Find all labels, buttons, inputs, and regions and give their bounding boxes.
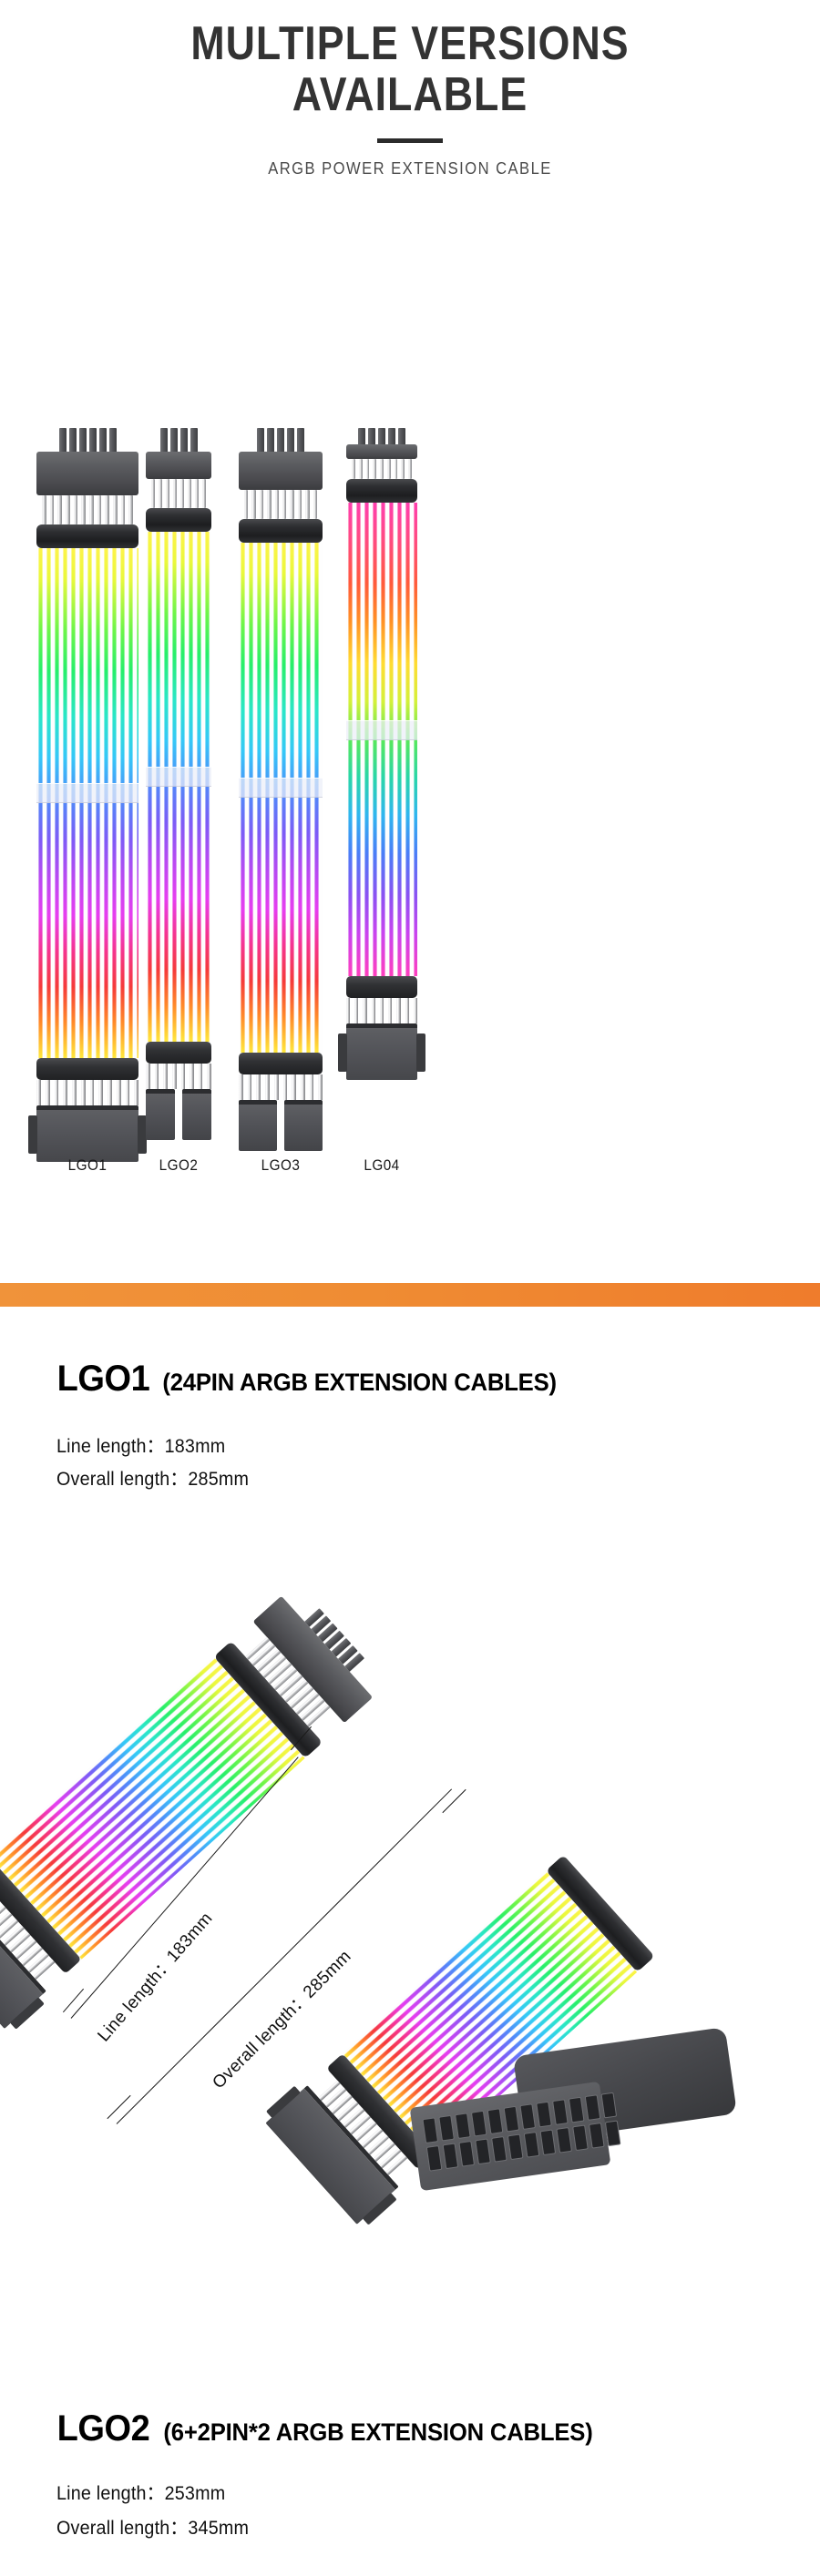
connector-pin-bottom	[134, 1080, 138, 1105]
connector-pin-bottom-group	[346, 998, 417, 1023]
connector-pin	[290, 490, 293, 519]
top-connector-body	[239, 452, 323, 490]
connector-pin-bottom	[301, 1074, 305, 1100]
connector-pin	[195, 479, 199, 508]
connector-pin-bottom	[46, 1080, 50, 1105]
connector-pin-hole	[458, 2141, 475, 2167]
connector-pin-hole	[519, 2103, 536, 2130]
connector-pin	[50, 495, 55, 524]
connector-pin	[188, 479, 191, 508]
connector-pin	[89, 495, 94, 524]
connector-pin-hole	[491, 2136, 507, 2163]
bottom-connector-block	[346, 1023, 417, 1080]
ribbon-mid-clip	[239, 778, 323, 798]
cable-clamp-bottom	[346, 976, 417, 998]
connector-pin-hole	[443, 2143, 459, 2169]
spec-value: 345mm	[188, 2518, 249, 2539]
cable-label-lgo3: LGO3	[223, 1156, 338, 1175]
connector-post	[160, 428, 168, 452]
connector-pin-bottom	[55, 1080, 59, 1105]
connector-post	[388, 428, 395, 444]
bottom-connector-block	[36, 1105, 138, 1162]
connector-pin-bottom	[239, 1074, 243, 1100]
connector-post	[59, 428, 67, 452]
spec-separator: ：	[147, 1436, 165, 1457]
rgb-ribbon	[239, 543, 323, 1053]
connector-pin-bottom	[163, 1064, 168, 1089]
connector-pin-bottom-group	[36, 1080, 138, 1105]
connector-pin	[74, 495, 78, 524]
spec-value: 253mm	[165, 2483, 226, 2504]
connector-post	[190, 428, 198, 452]
connector-pin-hole	[438, 2115, 455, 2142]
connector-pin	[395, 459, 398, 479]
rgb-glow-layer	[239, 543, 323, 1053]
connector-pin-bottom	[190, 1064, 194, 1089]
page-title-line1: MULTIPLE VERSIONS	[57, 18, 763, 69]
connector-pin-hole	[524, 2132, 540, 2158]
connector-pin	[251, 490, 255, 519]
product-heading-lgo1: LGO1 (24PIN ARGB EXTENSION CABLES)	[55, 1359, 567, 1400]
connector-pin	[352, 459, 355, 479]
connector-pin-hole	[475, 2138, 491, 2164]
connector-post	[287, 428, 294, 452]
connector-pin	[380, 459, 384, 479]
cable-clamp-bottom	[36, 1058, 138, 1080]
connector-pin	[97, 495, 102, 524]
connector-pin	[66, 495, 70, 524]
connector-pin	[173, 479, 177, 508]
connector-post-group	[36, 428, 138, 452]
connector-pin-hole	[572, 2124, 589, 2151]
connector-pin-bottom	[117, 1080, 121, 1105]
connector-pin	[260, 490, 263, 519]
spec-separator: ：	[169, 1469, 188, 1490]
spec-separator: ：	[147, 2483, 165, 2504]
connector-pin	[202, 479, 206, 508]
connector-pin-group	[146, 479, 211, 508]
cable-label-lg04: LG04	[324, 1156, 439, 1175]
bottom-connector-block	[146, 1089, 175, 1140]
connector-pin-bottom	[98, 1080, 103, 1105]
connector-post	[398, 428, 405, 444]
connector-pin-bottom	[354, 998, 358, 1023]
connector-pin-bottom	[292, 1074, 296, 1100]
section-divider-bar	[0, 1283, 820, 1307]
connector-pin	[180, 479, 184, 508]
connector-pin-bottom	[380, 998, 384, 1023]
connector-pin	[166, 479, 169, 508]
page-subtitle: ARGB POWER EXTENSION CABLE	[33, 159, 787, 178]
connector-post	[267, 428, 274, 452]
connector-pin	[244, 490, 248, 519]
spec-value: 285mm	[188, 1469, 249, 1490]
bottom-connector-block	[284, 1100, 323, 1151]
connector-post-group	[239, 428, 323, 452]
connector-pin-bottom	[248, 1074, 252, 1100]
connector-pin-hole	[507, 2133, 524, 2160]
connector-pin-bottom-group	[239, 1074, 323, 1100]
product-model-lgo2: LGO2	[57, 2408, 150, 2449]
bottom-connector-block	[239, 1100, 277, 1151]
connector-pin-bottom	[310, 1074, 314, 1100]
connector-pin-bottom	[396, 998, 400, 1023]
connector-post-group	[346, 428, 417, 444]
spec-value: 183mm	[165, 1436, 226, 1457]
rgb-glow-layer	[36, 548, 138, 1058]
connector-pin-hole	[536, 2102, 552, 2128]
connector-pin	[113, 495, 118, 524]
connector-pin-hole	[585, 2094, 601, 2121]
connector-post	[89, 428, 97, 452]
connector-pin	[267, 490, 271, 519]
connector-pin-bottom	[172, 1064, 177, 1089]
connector-pin-hole	[487, 2108, 504, 2134]
spec-overall-length-lgo1: Overall length：285mm	[56, 1464, 249, 1492]
rgb-ribbon	[36, 548, 138, 1058]
dimension-tick	[107, 2095, 130, 2119]
connector-pin-bottom	[81, 1080, 86, 1105]
connector-pin	[401, 459, 405, 479]
cable-lgo2	[146, 428, 211, 1140]
connector-pin-bottom	[265, 1074, 270, 1100]
rgb-ribbon	[146, 532, 211, 1042]
connector-pin-hole	[422, 2117, 438, 2143]
connector-pin-bottom	[405, 998, 409, 1023]
connector-post	[99, 428, 107, 452]
product-heading-lgo2: LGO2 (6+2PIN*2 ARGB EXTENSION CABLES)	[55, 2408, 604, 2449]
connector-pin	[42, 495, 46, 524]
connector-pin-bottom	[414, 998, 417, 1023]
connector-post	[79, 428, 87, 452]
connector-pin	[151, 479, 155, 508]
connector-pin-hole	[504, 2106, 520, 2133]
connector-pin	[275, 490, 279, 519]
connector-pin-bottom	[72, 1080, 77, 1105]
connector-pin	[282, 490, 286, 519]
connector-pin-bottom	[199, 1064, 203, 1089]
connector-pin-bottom	[108, 1080, 112, 1105]
connector-pin	[121, 495, 126, 524]
connector-pin-hole	[540, 2129, 557, 2155]
connector-pin-bottom	[283, 1074, 288, 1100]
bottom-connector-pair	[146, 1089, 211, 1140]
cable-clamp-top	[36, 524, 138, 548]
ribbon-mid-clip	[346, 720, 417, 740]
spec-label: Overall length	[56, 2518, 169, 2539]
connector-post	[170, 428, 178, 452]
connector-post	[69, 428, 77, 452]
top-connector-body	[36, 452, 138, 495]
connector-latch	[363, 2193, 397, 2225]
connector-pin	[298, 490, 302, 519]
connector-pin-bottom	[63, 1080, 67, 1105]
spec-overall-length-lgo2: Overall length：345mm	[56, 2513, 249, 2540]
connector-pin	[305, 490, 309, 519]
connector-pin-bottom	[318, 1074, 323, 1100]
spec-label: Overall length	[56, 1469, 169, 1490]
rgb-ribbon	[346, 503, 417, 976]
connector-pin-hole	[569, 2097, 585, 2123]
cable-lgo1	[36, 428, 138, 1162]
spec-label: Line length	[56, 1436, 147, 1457]
connector-post	[378, 428, 385, 444]
connector-pin-bottom	[90, 1080, 95, 1105]
top-connector-body	[146, 452, 211, 479]
connector-pin-bottom	[346, 998, 350, 1023]
product-description-lgo2: (6+2PIN*2 ARGB EXTENSION CABLES)	[163, 2418, 592, 2447]
connector-latch	[10, 1997, 45, 2030]
connector-pin-group	[36, 495, 138, 524]
connector-latch	[266, 2086, 301, 2119]
cable-clamp-top	[239, 519, 323, 543]
connector-pin-bottom	[388, 998, 392, 1023]
cable-clamp-top	[346, 479, 417, 503]
connector-latch	[28, 1115, 37, 1154]
connector-pin	[128, 495, 133, 524]
connector-post	[277, 428, 284, 452]
spec-separator: ：	[169, 2518, 188, 2539]
connector-pin-bottom	[181, 1064, 186, 1089]
connector-post	[257, 428, 264, 452]
rgb-glow-layer	[146, 532, 211, 1042]
connector-pin	[359, 459, 363, 479]
connector-pin	[387, 459, 391, 479]
connector-pin-bottom	[363, 998, 366, 1023]
connector-pin-group	[346, 459, 417, 479]
bottom-connector-pair	[239, 1100, 323, 1151]
connector-pin	[408, 459, 412, 479]
cable-clamp-bottom	[239, 1053, 323, 1074]
connector-pin-bottom	[155, 1064, 159, 1089]
connector-pin-bottom	[372, 998, 375, 1023]
connector-pin-bottom	[207, 1064, 211, 1089]
connector-pin-hole	[589, 2123, 605, 2149]
product-description-lgo1: (24PIN ARGB EXTENSION CABLES)	[162, 1369, 557, 1397]
page-title: MULTIPLE VERSIONS AVAILABLE	[57, 0, 763, 120]
hero-section: MULTIPLE VERSIONS AVAILABLE ARGB POWER E…	[0, 0, 820, 246]
connector-pin	[81, 495, 86, 524]
dimension-tick	[63, 1989, 84, 2012]
connector-pin-bottom-group	[146, 1064, 211, 1089]
page-title-line2: AVAILABLE	[57, 69, 763, 120]
connector-pin-hole	[552, 2099, 569, 2125]
bottom-connector-block	[182, 1089, 211, 1140]
connector-pin-bottom	[256, 1074, 261, 1100]
connector-pin	[366, 459, 370, 479]
cable-clamp-top	[146, 508, 211, 532]
spec-line-length-lgo1: Line length：183mm	[56, 1431, 225, 1459]
connector-post	[368, 428, 375, 444]
ribbon-mid-clip	[146, 767, 211, 787]
connector-pin-bottom	[146, 1064, 150, 1089]
connector-post	[109, 428, 117, 452]
connector-latch	[416, 1033, 425, 1072]
top-connector-body	[346, 444, 417, 459]
connector-pin	[313, 490, 317, 519]
cable-clamp-bottom	[146, 1042, 211, 1064]
ribbon-mid-clip	[36, 783, 138, 803]
spec-line-length-lgo2: Line length：253mm	[56, 2479, 225, 2506]
connector-pin-bottom	[126, 1080, 130, 1105]
connector-post	[180, 428, 188, 452]
connector-pin-bottom	[274, 1074, 279, 1100]
connector-pin-group	[239, 490, 323, 519]
connector-pin	[57, 495, 62, 524]
product-model-lgo1: LGO1	[57, 1359, 150, 1400]
connector-24pin-holes	[422, 2092, 620, 2172]
cable-lg04	[346, 428, 417, 1080]
connector-latch	[338, 1033, 347, 1072]
cable-lgo3	[239, 428, 323, 1151]
lgo1-dimension-diagram: Line length：183mmOverall length：285mm	[0, 1512, 820, 2313]
title-underline-rule	[377, 138, 443, 143]
connector-pin	[373, 459, 376, 479]
connector-post	[358, 428, 365, 444]
cable-lineup: LGO1LGO2LGO3LG04	[0, 428, 820, 1211]
connector-pin-hole	[455, 2113, 471, 2139]
connector-post	[297, 428, 304, 452]
connector-pin-bottom	[36, 1080, 41, 1105]
connector-pin-hole	[556, 2127, 572, 2153]
connector-pin-hole	[426, 2145, 443, 2172]
connector-pin	[105, 495, 109, 524]
connector-pin-hole	[471, 2111, 487, 2137]
connector-post-group	[146, 428, 211, 452]
connector-pin	[159, 479, 162, 508]
cable-label-lgo2: LGO2	[121, 1156, 236, 1175]
spec-label: Line length	[56, 2483, 147, 2504]
